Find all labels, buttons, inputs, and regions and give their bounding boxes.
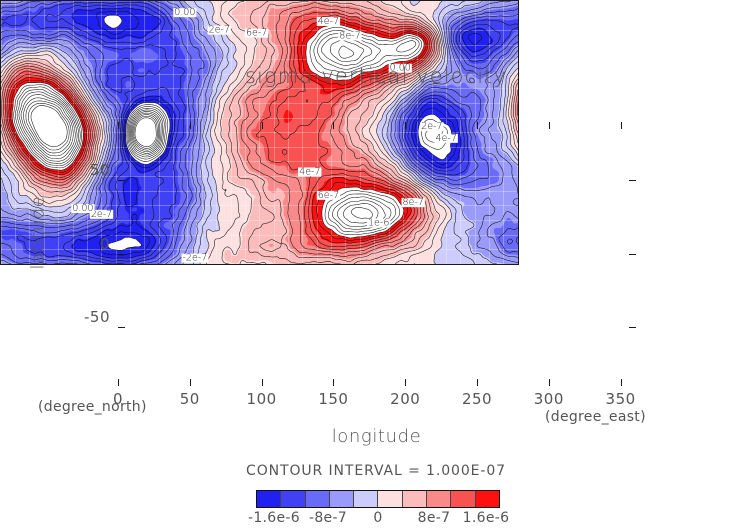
colorbar-swatch: [476, 491, 499, 507]
colorbar-swatch: [354, 491, 378, 507]
y-axis-unit: (degree_north): [38, 399, 147, 415]
colorbar-swatch: [281, 491, 305, 507]
colorbar: [256, 490, 500, 508]
x-tick-mark-top: [621, 122, 622, 129]
x-tick-mark: [190, 379, 191, 386]
colorbar-swatch: [451, 491, 475, 507]
x-tick-label: 250: [462, 390, 492, 408]
x-tick-label: 300: [534, 390, 564, 408]
y-tick-label: 0: [58, 235, 110, 253]
colorbar-swatch: [257, 491, 281, 507]
y-tick-label-wrap: 50: [58, 170, 110, 188]
x-tick-mark: [333, 379, 334, 386]
colorbar-tick-label: -8e-7: [309, 510, 347, 526]
x-tick-mark-top: [118, 122, 119, 129]
x-tick-mark-top: [333, 122, 334, 129]
contour-plot-area: [0, 0, 519, 265]
x-tick-mark-top: [477, 122, 478, 129]
y-tick-label: -50: [58, 308, 110, 326]
y-tick-mark-right: [629, 254, 636, 255]
colorbar-tick-label: 0: [373, 510, 382, 526]
y-tick-mark: [118, 327, 125, 328]
page-title: sigma-vertical velocity: [0, 64, 752, 88]
y-tick-mark: [118, 180, 125, 181]
colorbar-tick-label: 8e-7: [418, 510, 451, 526]
colorbar-swatch: [403, 491, 427, 507]
vertical-velocity-field: [1, 1, 518, 264]
colorbar-swatch: [330, 491, 354, 507]
x-tick-label: 0: [113, 390, 123, 408]
x-tick-mark-top: [190, 122, 191, 129]
colorbar-tick-labels: -1.6e-6-8e-708e-71.6e-6: [236, 510, 520, 530]
y-tick-mark-right: [629, 327, 636, 328]
x-tick-label: 350: [606, 390, 636, 408]
colorbar-swatches: [256, 490, 500, 508]
x-tick-mark: [405, 379, 406, 386]
colorbar-swatch: [427, 491, 451, 507]
plot-page: sigma-vertical velocity latitude longitu…: [0, 0, 752, 532]
x-tick-label: 100: [247, 390, 277, 408]
x-tick-mark-top: [405, 122, 406, 129]
x-tick-mark: [621, 379, 622, 386]
x-tick-mark-top: [262, 122, 263, 129]
x-tick-mark: [262, 379, 263, 386]
y-tick-mark: [118, 254, 125, 255]
y-tick-label-wrap: -50: [58, 317, 110, 335]
x-tick-mark: [549, 379, 550, 386]
x-axis-unit: (degree_east): [545, 409, 646, 425]
x-tick-mark-top: [549, 122, 550, 129]
colorbar-swatch: [306, 491, 330, 507]
y-axis-label: latitude: [28, 173, 49, 293]
x-tick-label: 50: [180, 390, 200, 408]
x-axis-label: longitude: [118, 426, 635, 447]
colorbar-tick-label: 1.6e-6: [463, 510, 510, 526]
x-tick-label: 150: [318, 390, 348, 408]
y-tick-label-wrap: 0: [58, 244, 110, 262]
x-tick-label: 200: [390, 390, 420, 408]
colorbar-swatch: [378, 491, 402, 507]
y-tick-mark-right: [629, 180, 636, 181]
y-tick-label: 50: [58, 161, 110, 179]
x-tick-mark: [118, 379, 119, 386]
x-tick-mark: [477, 379, 478, 386]
colorbar-tick-label: -1.6e-6: [248, 510, 300, 526]
contour-interval-text: CONTOUR INTERVAL = 1.000E-07: [0, 463, 752, 479]
